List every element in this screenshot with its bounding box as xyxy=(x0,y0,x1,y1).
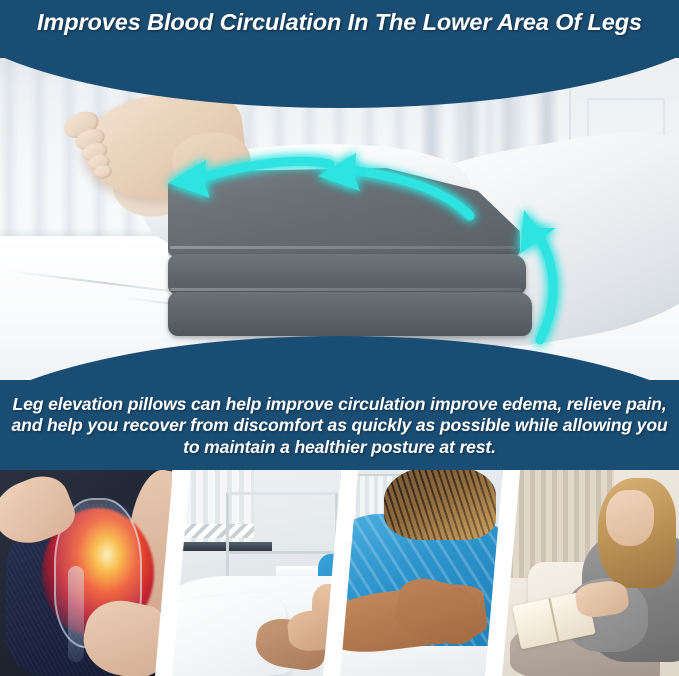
pillow-layer-top xyxy=(168,168,520,256)
pillow-seam xyxy=(170,246,515,249)
thumbnail-knee-pain[interactable] xyxy=(0,470,172,676)
knee-shin-bone xyxy=(68,566,84,662)
product-infographic: Improves Blood Circulation In The Lower … xyxy=(0,0,679,676)
hospital-patient-braids xyxy=(384,470,496,540)
thumbnail-hospital-patient[interactable] xyxy=(340,470,502,676)
pillow-layer-bottom xyxy=(168,292,532,336)
description-text: Leg elevation pillows can help improve c… xyxy=(5,394,675,459)
hero-scene xyxy=(0,40,679,380)
header-banner: Improves Blood Circulation In The Lower … xyxy=(0,0,679,58)
wedge-pillow xyxy=(168,168,528,358)
pregnant-woman-face xyxy=(606,490,654,546)
thumbnail-clinical-care[interactable] xyxy=(172,470,340,676)
pillow-layer-middle xyxy=(168,254,526,294)
hero-photo-panel xyxy=(0,40,679,380)
thumbnail-pregnancy-rest[interactable] xyxy=(502,470,679,676)
page-title: Improves Blood Circulation In The Lower … xyxy=(0,9,679,36)
thumbnail-strip xyxy=(0,470,679,676)
description-banner: Leg elevation pillows can help improve c… xyxy=(0,384,679,468)
pillow-seam xyxy=(170,288,521,291)
